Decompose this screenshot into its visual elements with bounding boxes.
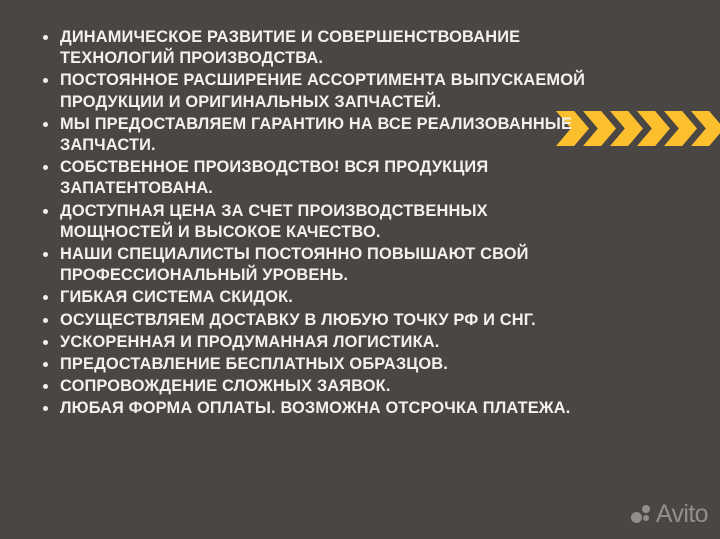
bullet-icon bbox=[43, 362, 48, 367]
bullet-icon bbox=[43, 384, 48, 389]
list-item: УСКОРЕННАЯ И ПРОДУМАННАЯ ЛОГИСТИКА. bbox=[38, 332, 598, 353]
logo-dot bbox=[643, 515, 649, 521]
list-item-label: СОБСТВЕННОЕ ПРОИЗВОДСТВО! ВСЯ ПРОДУКЦИЯ … bbox=[60, 158, 488, 197]
list-item: ОСУЩЕСТВЛЯЕМ ДОСТАВКУ В ЛЮБУЮ ТОЧКУ РФ И… bbox=[38, 310, 598, 331]
list-item-label: ПОСТОЯННОЕ РАСШИРЕНИЕ АССОРТИМЕНТА ВЫПУС… bbox=[60, 71, 585, 110]
list-item: НАШИ СПЕЦИАЛИСТЫ ПОСТОЯННО ПОВЫШАЮТ СВОЙ… bbox=[38, 244, 598, 286]
list-item: ДОСТУПНАЯ ЦЕНА ЗА СЧЕТ ПРОИЗВОДСТВЕННЫХ … bbox=[38, 201, 598, 243]
bullet-icon bbox=[43, 78, 48, 83]
list-item-label: НАШИ СПЕЦИАЛИСТЫ ПОСТОЯННО ПОВЫШАЮТ СВОЙ… bbox=[60, 245, 529, 284]
list-item: СОПРОВОЖДЕНИЕ СЛОЖНЫХ ЗАЯВОК. bbox=[38, 376, 598, 397]
avito-watermark: Avito bbox=[631, 502, 708, 527]
list-item-label: ОСУЩЕСТВЛЯЕМ ДОСТАВКУ В ЛЮБУЮ ТОЧКУ РФ И… bbox=[60, 311, 536, 329]
bullet-icon bbox=[43, 252, 48, 257]
list-item-label: ДИНАМИЧЕСКОЕ РАЗВИТИЕ И СОВЕРШЕНСТВОВАНИ… bbox=[60, 28, 520, 67]
bullet-icon bbox=[43, 340, 48, 345]
list-item-label: МЫ ПРЕДОСТАВЛЯЕМ ГАРАНТИЮ НА ВСЕ РЕАЛИЗО… bbox=[60, 115, 572, 154]
logo-dot bbox=[631, 512, 642, 523]
list-item: МЫ ПРЕДОСТАВЛЯЕМ ГАРАНТИЮ НА ВСЕ РЕАЛИЗО… bbox=[38, 114, 598, 156]
bullet-icon bbox=[43, 406, 48, 411]
bullet-icon bbox=[43, 122, 48, 127]
bullet-icon bbox=[43, 295, 48, 300]
list-item-label: ПРЕДОСТАВЛЕНИЕ БЕСПЛАТНЫХ ОБРАЗЦОВ. bbox=[60, 355, 448, 373]
bullet-icon bbox=[43, 209, 48, 214]
bullet-icon bbox=[43, 35, 48, 40]
list-item: ПРЕДОСТАВЛЕНИЕ БЕСПЛАТНЫХ ОБРАЗЦОВ. bbox=[38, 354, 598, 375]
list-item-label: ДОСТУПНАЯ ЦЕНА ЗА СЧЕТ ПРОИЗВОДСТВЕННЫХ … bbox=[60, 202, 488, 241]
list-item: ЛЮБАЯ ФОРМА ОПЛАТЫ. ВОЗМОЖНА ОТСРОЧКА ПЛ… bbox=[38, 398, 598, 419]
list-item-label: ГИБКАЯ СИСТЕМА СКИДОК. bbox=[60, 288, 293, 306]
avito-dots-logo-icon bbox=[631, 504, 653, 526]
list-item: ГИБКАЯ СИСТЕМА СКИДОК. bbox=[38, 287, 598, 308]
logo-dot bbox=[642, 505, 650, 513]
list-item-label: УСКОРЕННАЯ И ПРОДУМАННАЯ ЛОГИСТИКА. bbox=[60, 333, 439, 351]
slide-canvas: ДИНАМИЧЕСКОЕ РАЗВИТИЕ И СОВЕРШЕНСТВОВАНИ… bbox=[0, 0, 720, 539]
bullet-icon bbox=[43, 318, 48, 323]
list-item-label: СОПРОВОЖДЕНИЕ СЛОЖНЫХ ЗАЯВОК. bbox=[60, 377, 391, 395]
list-item: СОБСТВЕННОЕ ПРОИЗВОДСТВО! ВСЯ ПРОДУКЦИЯ … bbox=[38, 157, 598, 199]
list-item-label: ЛЮБАЯ ФОРМА ОПЛАТЫ. ВОЗМОЖНА ОТСРОЧКА ПЛ… bbox=[60, 399, 570, 417]
list-item: ДИНАМИЧЕСКОЕ РАЗВИТИЕ И СОВЕРШЕНСТВОВАНИ… bbox=[38, 27, 598, 69]
avito-wordmark: Avito bbox=[656, 502, 708, 527]
list-item: ПОСТОЯННОЕ РАСШИРЕНИЕ АССОРТИМЕНТА ВЫПУС… bbox=[38, 70, 598, 112]
benefits-list: ДИНАМИЧЕСКОЕ РАЗВИТИЕ И СОВЕРШЕНСТВОВАНИ… bbox=[38, 27, 598, 421]
bullet-icon bbox=[43, 165, 48, 170]
